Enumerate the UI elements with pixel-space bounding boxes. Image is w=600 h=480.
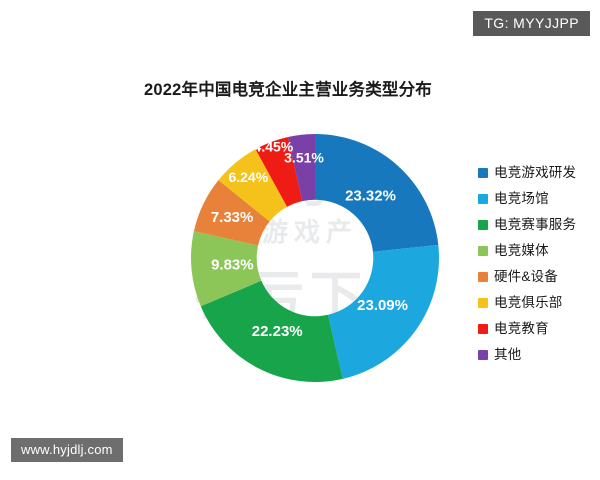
legend-color-swatch bbox=[478, 246, 488, 256]
chart-legend: 电竞游戏研发电竞场馆电竞赛事服务电竞媒体硬件&设备电竞俱乐部电竞教育其他 bbox=[478, 160, 576, 368]
legend-item-label: 电竞教育 bbox=[494, 322, 549, 336]
pie-slice-label: 3.51% bbox=[284, 149, 324, 165]
donut-chart: 23.32%23.09%22.23%9.83%7.33%6.24%4.45%3.… bbox=[190, 133, 440, 383]
legend-item-label: 电竞场馆 bbox=[494, 192, 549, 206]
chart-title-text: 2022年中国电竞企业主营业务类型分布 bbox=[144, 76, 432, 100]
legend-color-swatch bbox=[478, 272, 488, 282]
legend-item[interactable]: 其他 bbox=[478, 342, 576, 368]
source-url-badge: www.hyjdlj.com bbox=[11, 438, 123, 462]
legend-color-swatch bbox=[478, 324, 488, 334]
pie-slice-label: 9.83% bbox=[211, 256, 254, 273]
legend-item-label: 电竞游戏研发 bbox=[494, 166, 576, 180]
legend-color-swatch bbox=[478, 350, 488, 360]
legend-item[interactable]: 电竞场馆 bbox=[478, 186, 576, 212]
legend-item[interactable]: 电竞教育 bbox=[478, 316, 576, 342]
pie-slice-label: 7.33% bbox=[211, 209, 254, 226]
legend-item[interactable]: 电竞赛事服务 bbox=[478, 212, 576, 238]
pie-slice-label: 23.32% bbox=[345, 187, 396, 204]
pie-slice-label: 23.09% bbox=[357, 297, 408, 314]
legend-color-swatch bbox=[478, 194, 488, 204]
legend-color-swatch bbox=[478, 220, 488, 230]
legend-item[interactable]: 电竞游戏研发 bbox=[478, 160, 576, 186]
legend-item-label: 电竞赛事服务 bbox=[494, 218, 576, 232]
donut-chart-svg: 23.32%23.09%22.23%9.83%7.33%6.24%4.45%3.… bbox=[190, 133, 440, 383]
pie-slice-label: 6.24% bbox=[228, 169, 268, 185]
legend-color-swatch bbox=[478, 168, 488, 178]
legend-item-label: 电竞媒体 bbox=[494, 244, 549, 258]
chart-title: 2022年中国电竞企业主营业务类型分布 bbox=[0, 76, 600, 100]
legend-item-label: 其他 bbox=[494, 348, 521, 362]
pie-slice-label: 22.23% bbox=[252, 323, 303, 340]
chart-canvas: TG: MYYJJPP 2022年中国电竞企业主营业务类型分布 仙与安 游戏产 … bbox=[0, 0, 600, 480]
legend-color-swatch bbox=[478, 298, 488, 308]
legend-item[interactable]: 硬件&设备 bbox=[478, 264, 576, 290]
legend-item-label: 电竞俱乐部 bbox=[494, 296, 563, 310]
legend-item-label: 硬件&设备 bbox=[494, 270, 558, 284]
legend-item[interactable]: 电竞媒体 bbox=[478, 238, 576, 264]
telegram-watermark-badge: TG: MYYJJPP bbox=[473, 11, 590, 36]
legend-item[interactable]: 电竞俱乐部 bbox=[478, 290, 576, 316]
